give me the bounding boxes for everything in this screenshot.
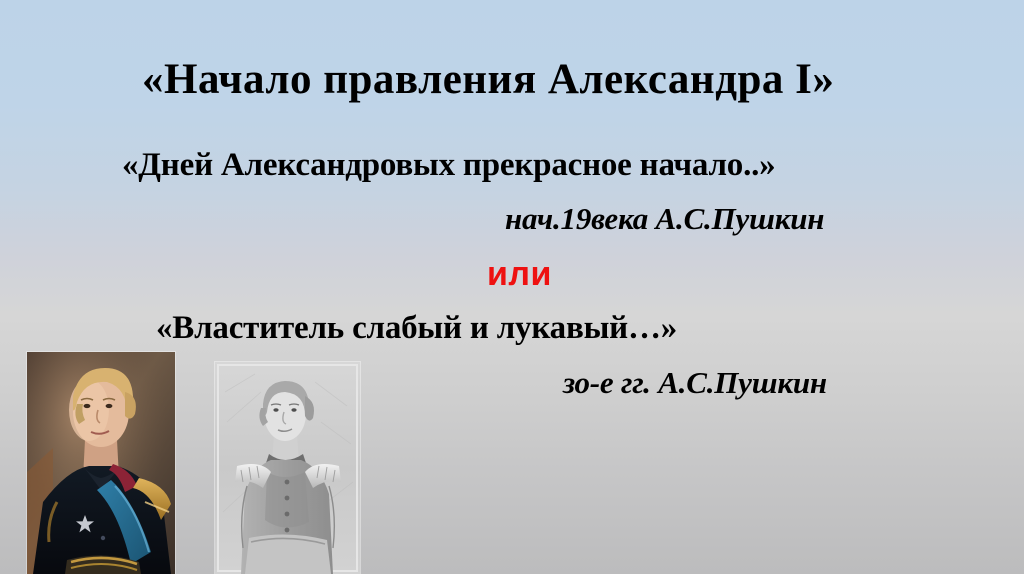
quote-second-attribution: зо-е гг. А.С.Пушкин [563, 365, 827, 401]
quote-first-attribution: нач.19века А.С.Пушкин [505, 201, 824, 237]
slide-title: «Начало правления Александра I» [142, 55, 834, 104]
portrait-alexander-image [27, 352, 175, 574]
portrait-alexander-illustration [27, 352, 175, 574]
presentation-slide: «Начало правления Александра I» «Дней Ал… [0, 0, 1024, 574]
connector-or: или [487, 255, 552, 294]
quote-second: «Властитель слабый и лукавый…» [156, 310, 677, 347]
quote-first: «Дней Александровых прекрасное начало..» [122, 147, 775, 184]
portrait-sketch-illustration [215, 362, 360, 574]
portrait-sketch-image [215, 362, 360, 574]
